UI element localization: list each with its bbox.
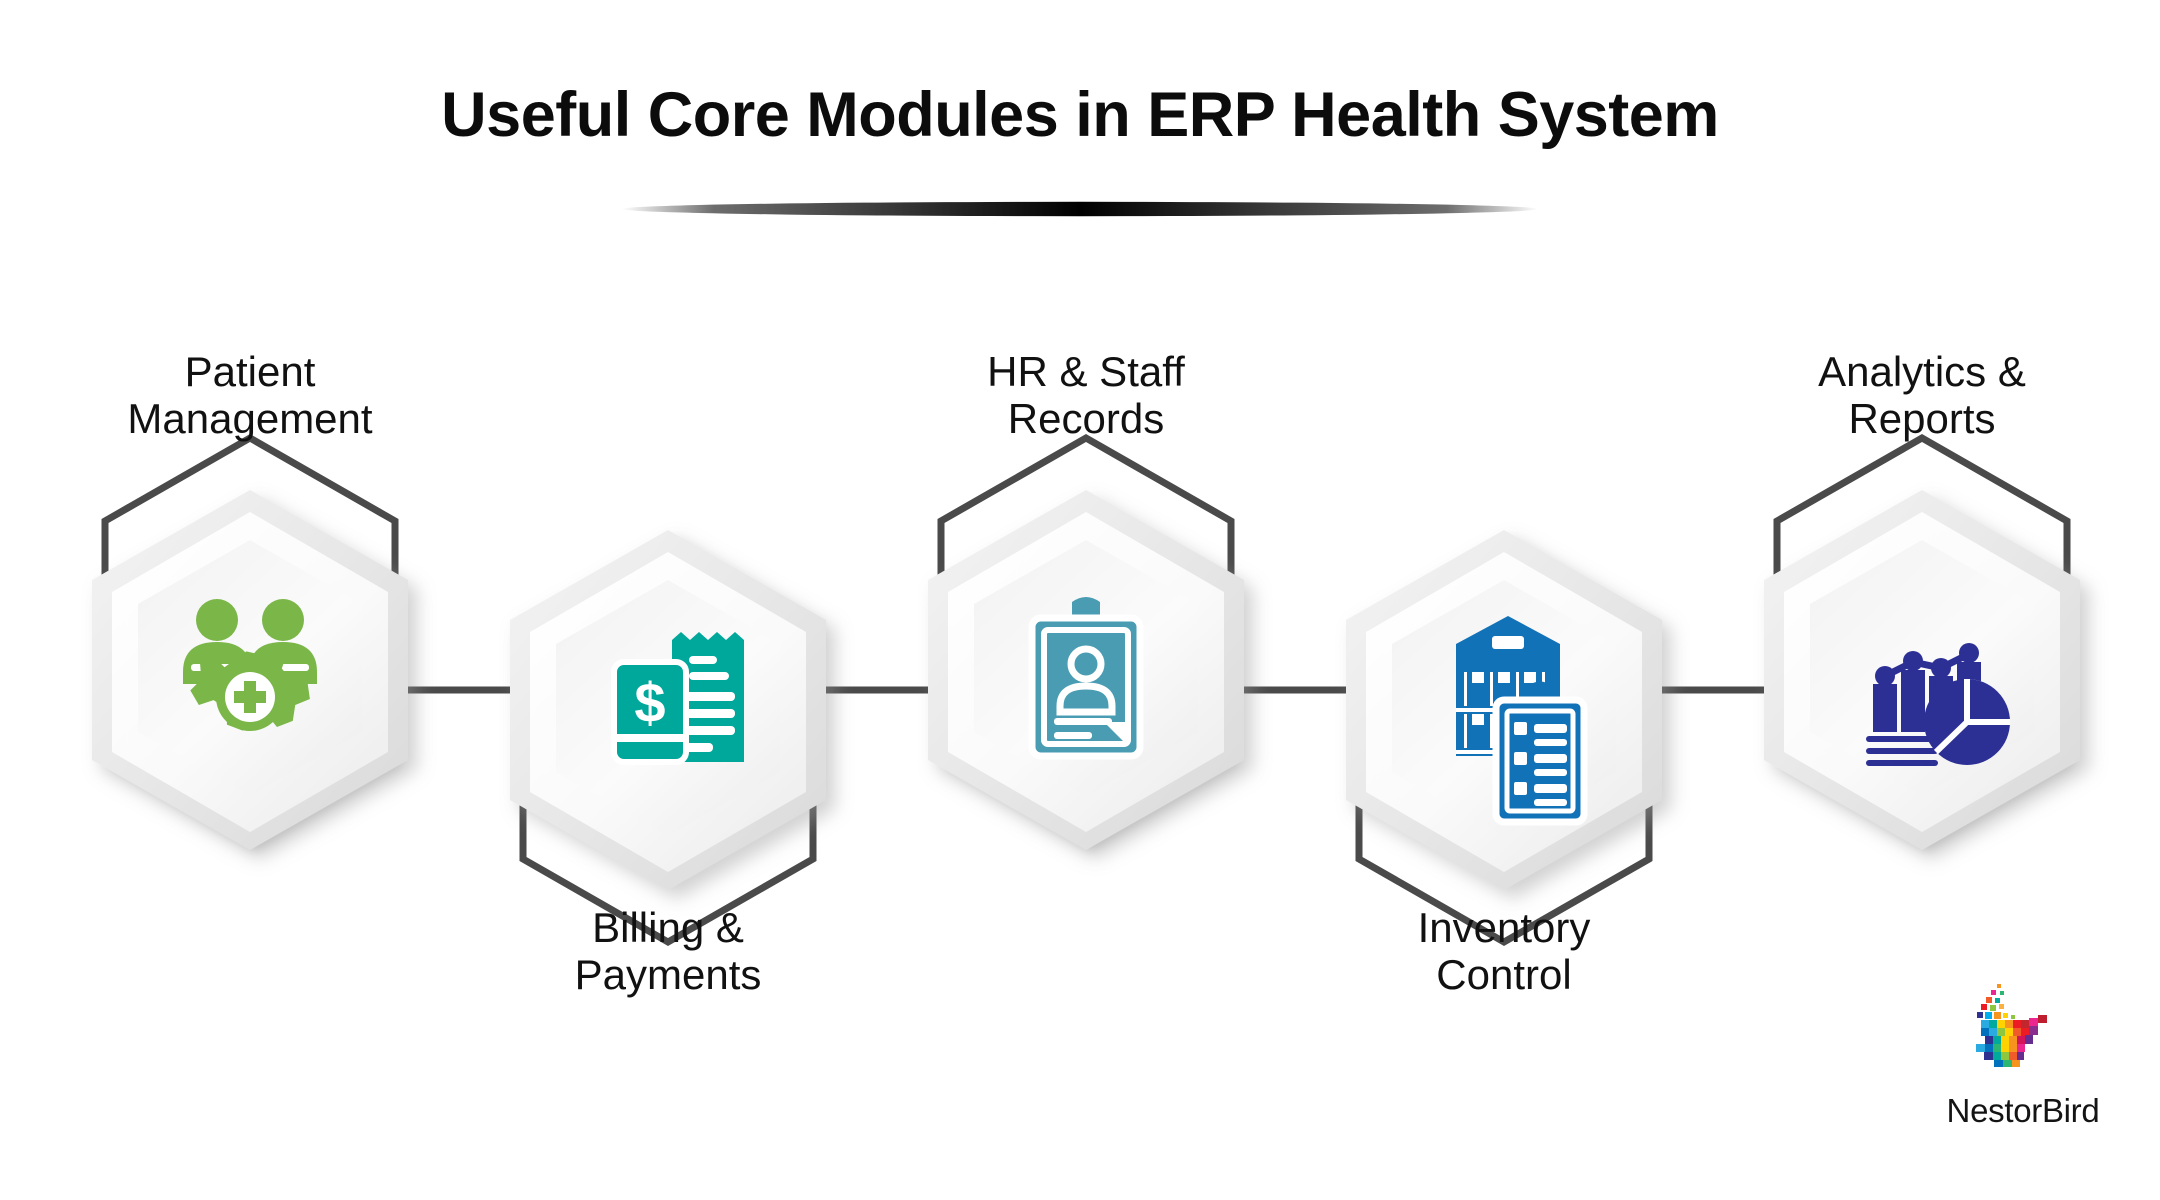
clipboard-person-icon bbox=[1032, 597, 1140, 756]
brand-name: NestorBird bbox=[1928, 1092, 2118, 1130]
module-hexagon-chain: $ bbox=[0, 0, 2160, 1200]
module-hexagon-hr-staff-records[interactable] bbox=[928, 490, 1244, 850]
module-hexagon-analytics-reports[interactable] bbox=[1764, 490, 2080, 850]
svg-text:$: $ bbox=[634, 671, 665, 734]
module-label-analytics-reports: Analytics & Reports bbox=[1702, 348, 2142, 442]
module-hexagon-inventory-control[interactable] bbox=[1346, 530, 1662, 890]
module-label-patient-management: Patient Management bbox=[30, 348, 470, 442]
module-hexagon-patient-management[interactable] bbox=[92, 490, 408, 850]
module-label-hr-staff-records: HR & Staff Records bbox=[866, 348, 1306, 442]
pixel-bird-logo-icon bbox=[1964, 982, 2082, 1086]
infographic-canvas: Useful Core Modules in ERP Health System bbox=[0, 0, 2160, 1200]
module-hexagon-billing-payments[interactable]: $ bbox=[510, 530, 826, 890]
module-label-inventory-control: Inventory Control bbox=[1284, 904, 1724, 998]
module-label-billing-payments: Billing & Payments bbox=[448, 904, 888, 998]
brand-logo[interactable]: NestorBird bbox=[1928, 982, 2118, 1130]
